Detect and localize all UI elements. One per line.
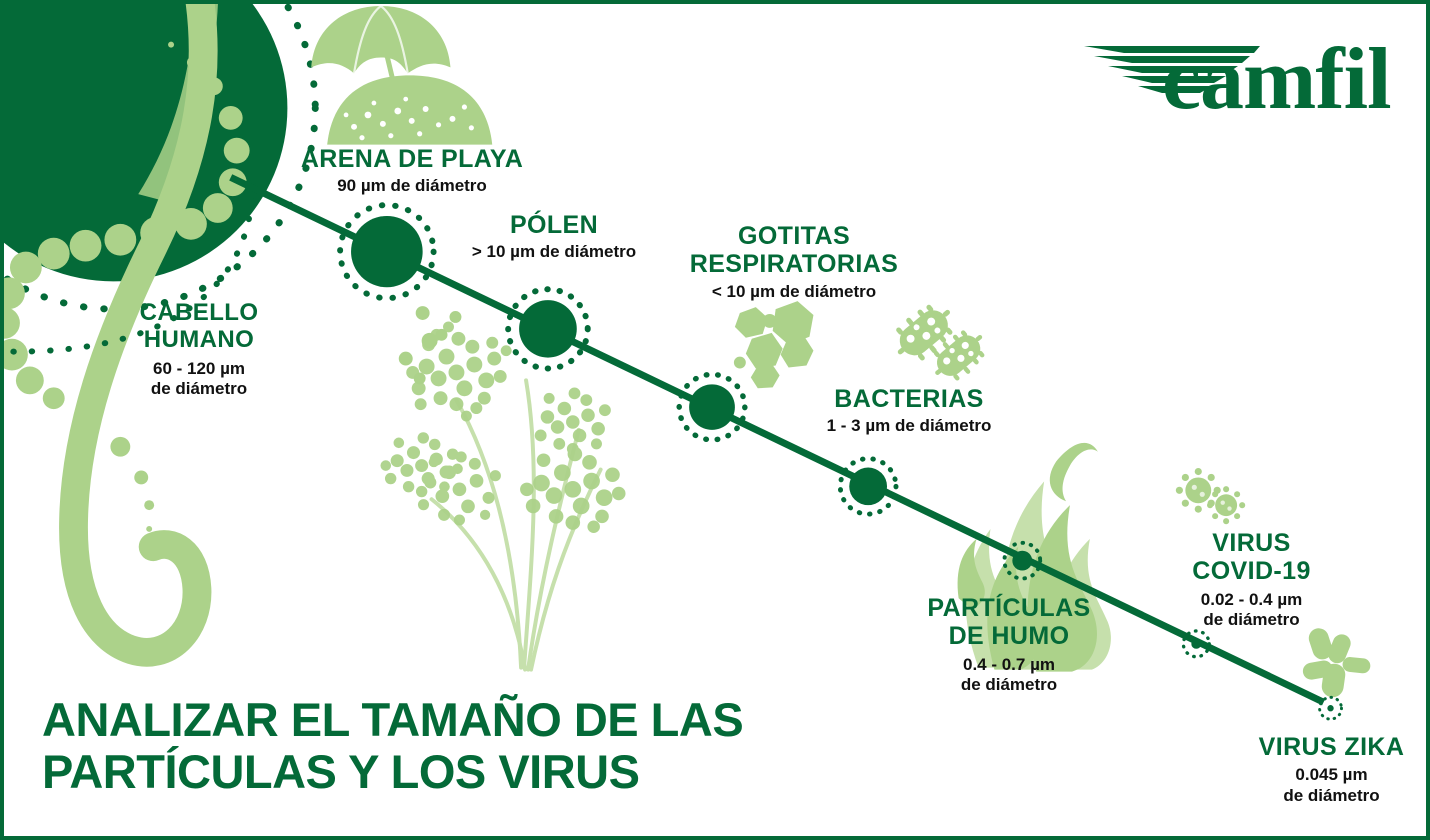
pollen-puff bbox=[406, 321, 511, 421]
label-subtitle: 90 µm de diámetro bbox=[262, 177, 562, 195]
label-subtitle: < 10 µm de diámetro bbox=[644, 283, 944, 301]
coronavirus-icon bbox=[1176, 468, 1245, 524]
infographic-canvas: camfil ARENA DE PLAYA 90 µm de diámetro … bbox=[0, 0, 1430, 840]
zika-virus-icon bbox=[1302, 626, 1372, 699]
node-gotitas-respiratorias bbox=[679, 374, 745, 439]
camfil-logo[interactable]: camfil bbox=[1082, 30, 1392, 122]
label-subtitle: 1 - 3 µm de diámetro bbox=[784, 417, 1034, 435]
node-polen bbox=[508, 289, 588, 368]
label-arena-de-playa: ARENA DE PLAYA 90 µm de diámetro bbox=[262, 146, 562, 195]
label-title: GOTITAS RESPIRATORIAS bbox=[644, 222, 944, 278]
label-title: ARENA DE PLAYA bbox=[262, 146, 562, 172]
label-subtitle: 0.02 - 0.4 µm de diámetro bbox=[1144, 590, 1359, 631]
label-title: VIRUS ZIKA bbox=[1234, 734, 1429, 760]
label-virus-zika: VIRUS ZIKA 0.045 µm de diámetro bbox=[1234, 734, 1429, 806]
camfil-logo-text: camfil bbox=[1162, 31, 1391, 122]
camfil-logo-svg: camfil bbox=[1082, 30, 1392, 122]
label-title: VIRUS COVID-19 bbox=[1144, 529, 1359, 585]
label-particulas-de-humo: PARTÍCULAS DE HUMO 0.4 - 0.7 µm de diáme… bbox=[884, 594, 1134, 696]
beach-umbrella-icon bbox=[311, 6, 492, 145]
label-title: PARTÍCULAS DE HUMO bbox=[884, 594, 1134, 650]
page-title: ANALIZAR EL TAMAÑO DE LAS PARTÍCULAS Y L… bbox=[42, 694, 802, 797]
label-virus-covid-19: VIRUS COVID-19 0.02 - 0.4 µm de diámetro bbox=[1144, 529, 1359, 631]
node-arena-de-playa bbox=[340, 205, 433, 298]
pollen-puff bbox=[418, 451, 501, 525]
pollen-puff bbox=[520, 447, 625, 533]
dandelion-pollen-icon bbox=[380, 306, 625, 670]
bacteria-icon bbox=[885, 294, 996, 390]
label-subtitle: 0.045 µm de diámetro bbox=[1234, 765, 1429, 806]
pollen-puff bbox=[535, 387, 611, 454]
label-title: BACTERIAS bbox=[784, 386, 1034, 412]
label-subtitle: 60 - 120 µm de diámetro bbox=[94, 359, 304, 400]
label-cabello-humano: CABELLO HUMANO 60 - 120 µm de diámetro bbox=[94, 300, 304, 400]
label-subtitle: 0.4 - 0.7 µm de diámetro bbox=[884, 655, 1134, 696]
label-bacterias: BACTERIAS 1 - 3 µm de diámetro bbox=[784, 386, 1034, 435]
pollen-puff bbox=[380, 432, 462, 497]
label-title: CABELLO HUMANO bbox=[94, 300, 304, 354]
node-bacterias bbox=[840, 459, 896, 514]
label-gotitas-respiratorias: GOTITAS RESPIRATORIAS < 10 µm de diámetr… bbox=[644, 222, 944, 301]
respiratory-droplets-icon bbox=[734, 301, 814, 388]
